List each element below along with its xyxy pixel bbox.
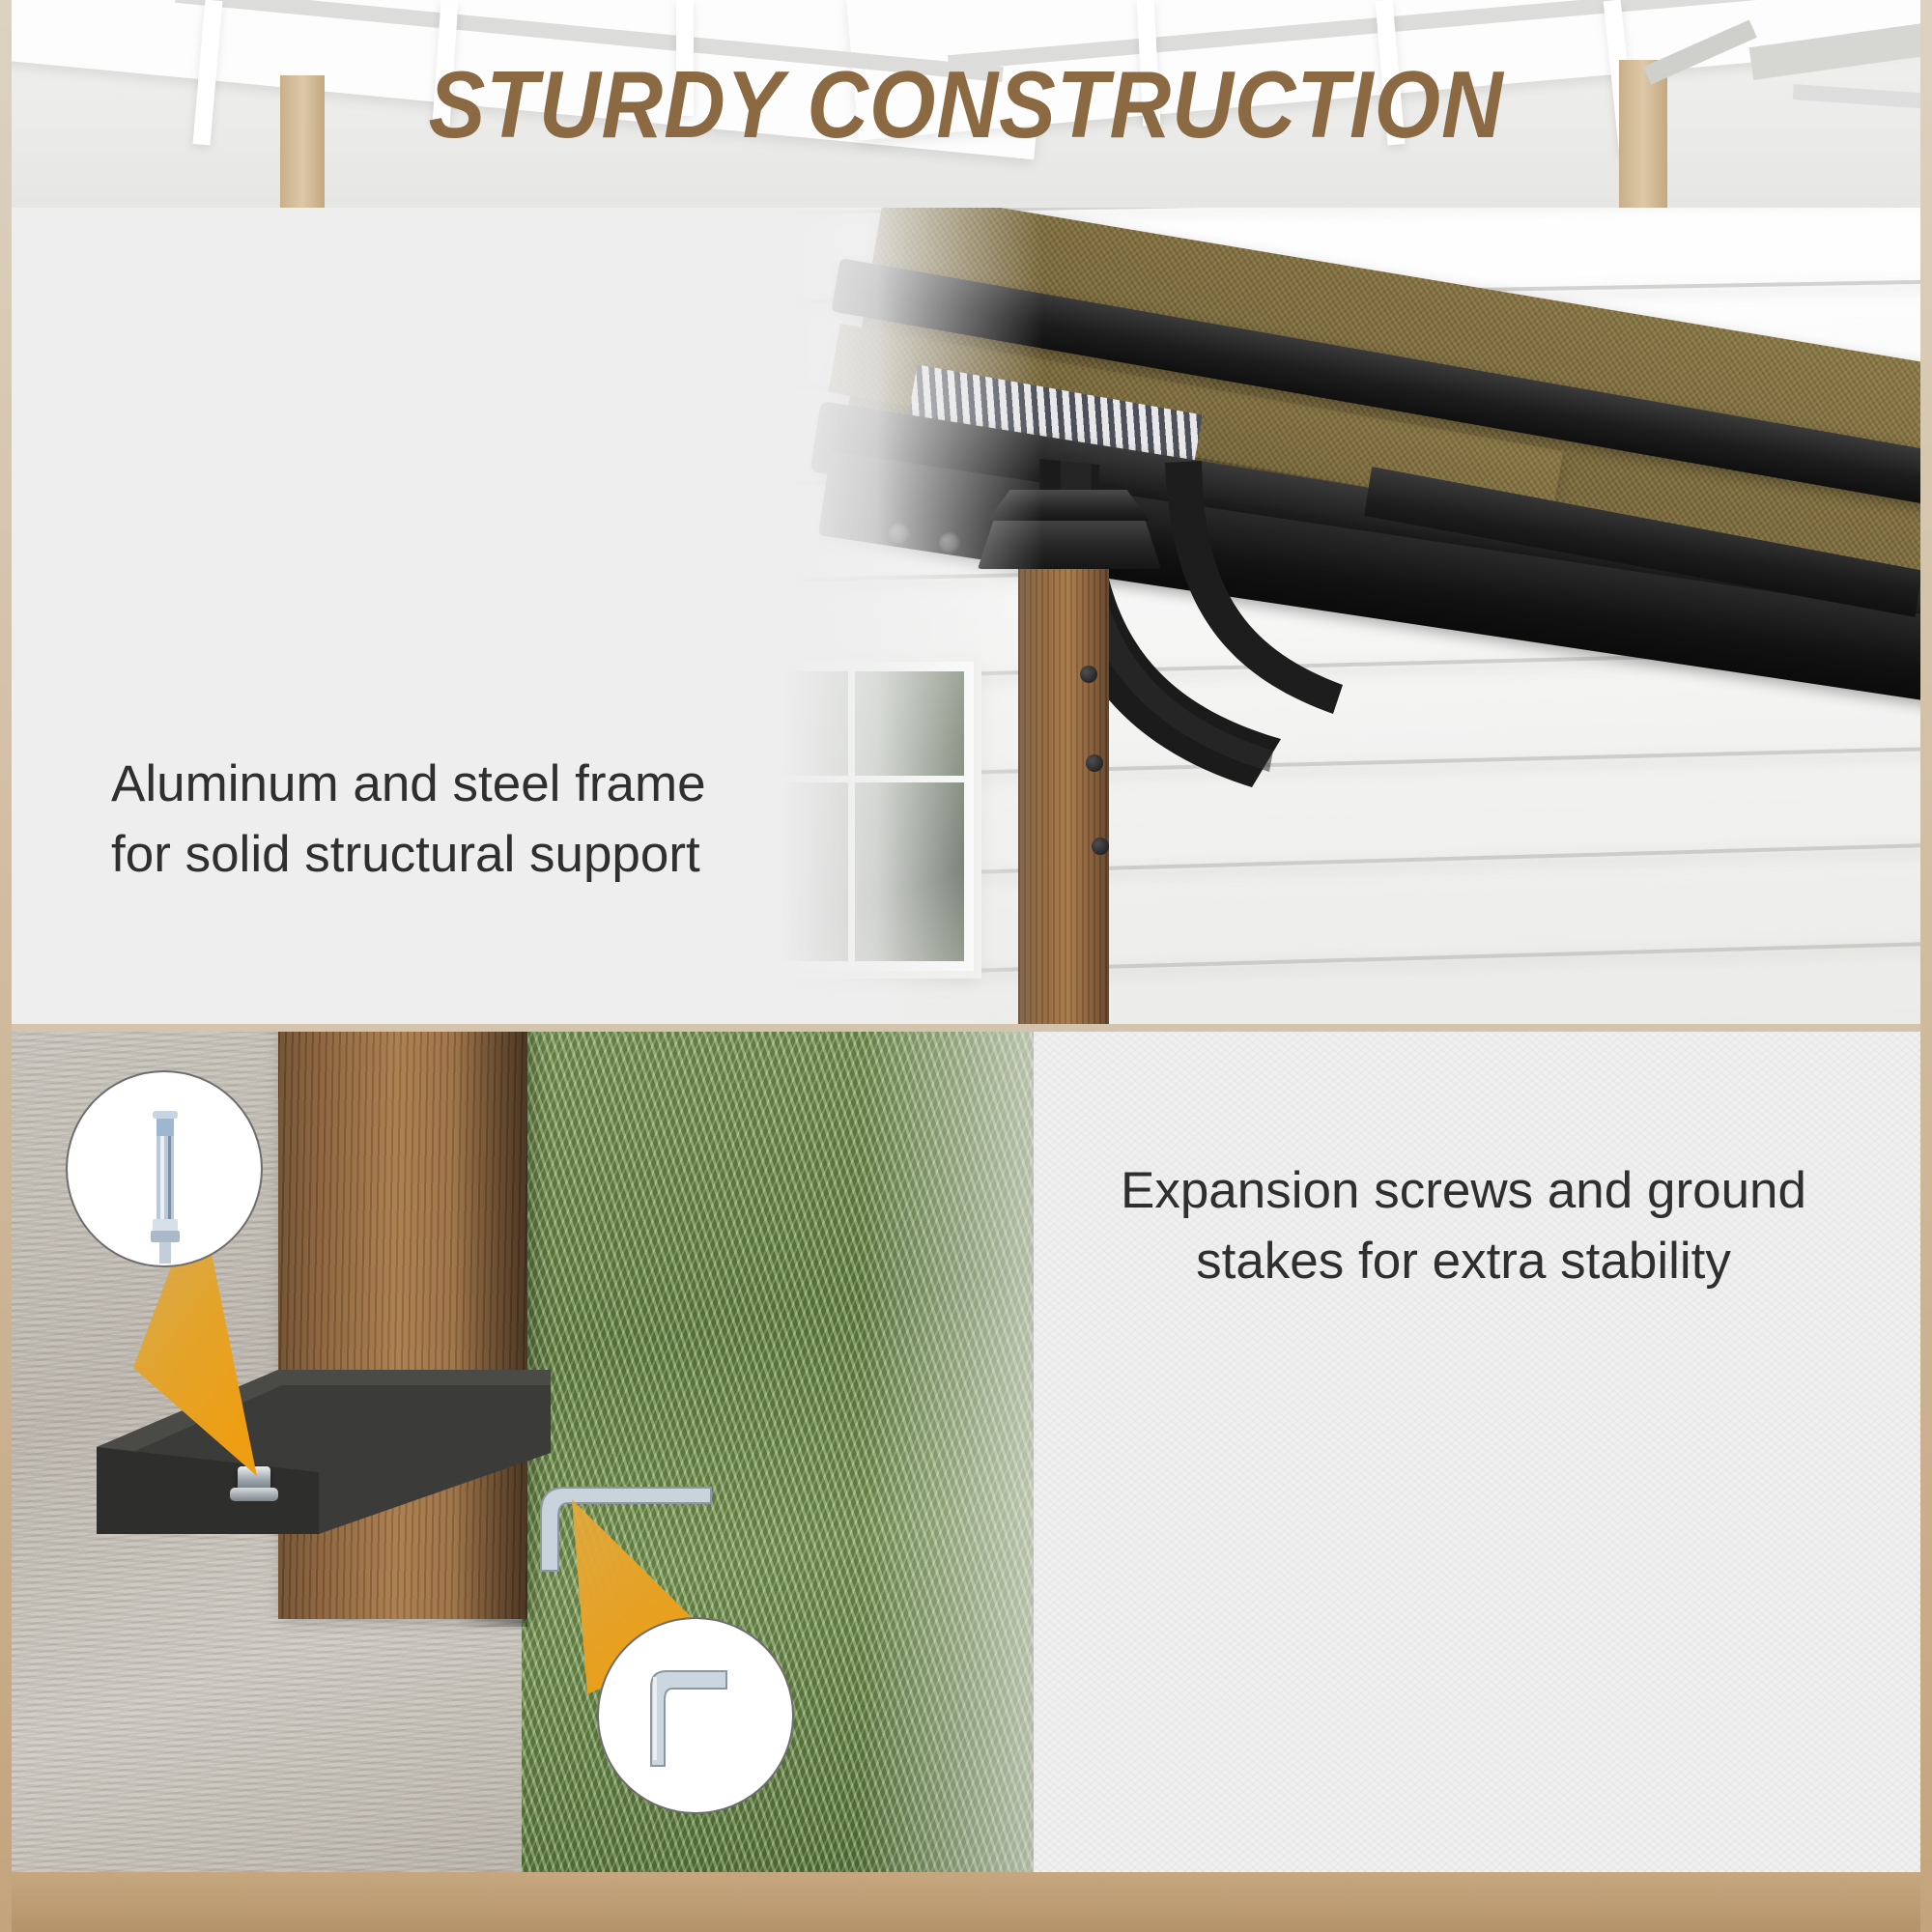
product-feature-poster: STURDY CONSTRUCTION — [0, 0, 1932, 1932]
expansion-screw-callout — [66, 1070, 263, 1267]
upper-panel-photo — [696, 208, 1922, 1024]
upper-caption-line-2: for solid structural support — [111, 819, 787, 890]
bottom-border-band — [0, 1872, 1932, 1932]
feature-panel-upper: Aluminum and steel frame for solid struc… — [10, 208, 1922, 1024]
post-bolt-icon — [1080, 666, 1097, 683]
left-border-band — [0, 0, 12, 1932]
post-bolt-icon — [1092, 838, 1109, 855]
right-border-band — [1920, 0, 1932, 1932]
lower-caption-line-2: stakes for extra stability — [1116, 1226, 1811, 1296]
upper-panel-caption: Aluminum and steel frame for solid struc… — [111, 749, 787, 890]
lower-panel-caption: Expansion screws and ground stakes for e… — [1116, 1155, 1811, 1296]
ground-stake-callout — [597, 1617, 794, 1814]
feature-panel-lower: Expansion screws and ground stakes for e… — [10, 1032, 1922, 1874]
lower-caption-line-1: Expansion screws and ground — [1116, 1155, 1811, 1226]
post-bolt-icon — [1086, 754, 1103, 772]
curved-bracket-right — [1126, 455, 1435, 764]
photo-left-fade — [696, 208, 1043, 1024]
ground-stake-icon — [599, 1619, 792, 1812]
upper-caption-line-1: Aluminum and steel frame — [111, 749, 787, 819]
expansion-screw-icon — [68, 1072, 261, 1265]
page-title: STURDY CONSTRUCTION — [97, 50, 1835, 159]
